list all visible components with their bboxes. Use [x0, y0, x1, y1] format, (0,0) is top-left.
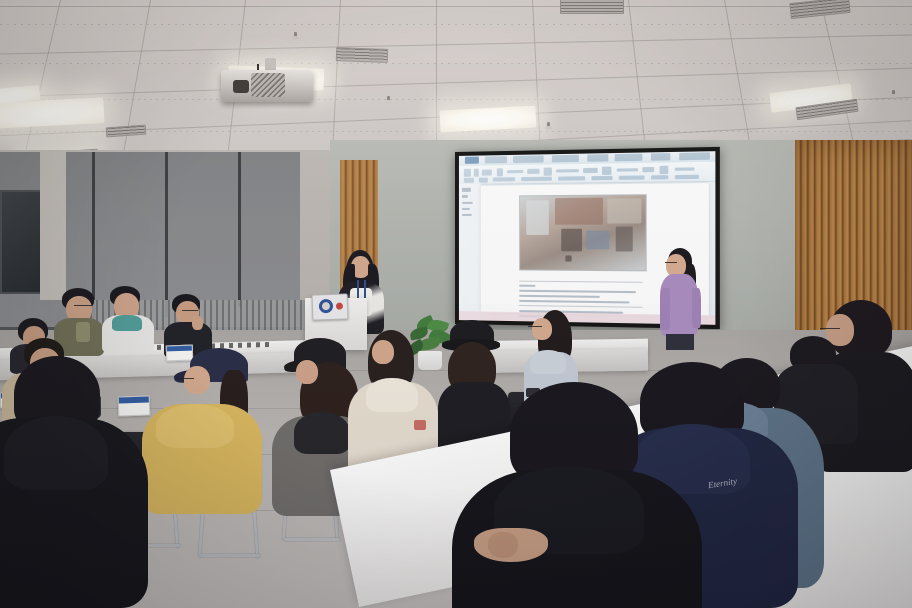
glasses-icon — [178, 378, 194, 382]
glasses-icon — [820, 328, 840, 332]
trousers — [666, 334, 694, 350]
sprinkler-3 — [545, 122, 552, 131]
sprinkler-1 — [292, 32, 299, 41]
teal-hood — [112, 315, 142, 331]
air-vent-center-2 — [560, 0, 624, 14]
hand — [192, 316, 203, 330]
glasses-icon — [74, 305, 92, 309]
document-embedded-image — [519, 194, 647, 271]
name-placard-2 — [166, 345, 194, 362]
laptop[interactable] — [312, 293, 349, 320]
name-placard-1 — [118, 395, 151, 416]
seminar-room-photo: Eternity — [0, 0, 912, 608]
sprinkler-4 — [890, 90, 897, 99]
air-vent-center — [336, 47, 388, 63]
glasses-icon — [182, 310, 198, 314]
hoodie-logo — [414, 420, 426, 430]
ceiling-projector-icon — [221, 58, 313, 104]
glasses-icon — [528, 326, 542, 330]
wall-pillar — [40, 150, 66, 300]
navigation-pane[interactable] — [459, 184, 482, 321]
app-ribbon-toolbar[interactable] — [459, 162, 715, 185]
plant-pot — [418, 351, 442, 370]
laptop-sticker — [336, 303, 343, 310]
glasses-icon — [665, 262, 677, 266]
sprinkler-2 — [385, 96, 392, 105]
